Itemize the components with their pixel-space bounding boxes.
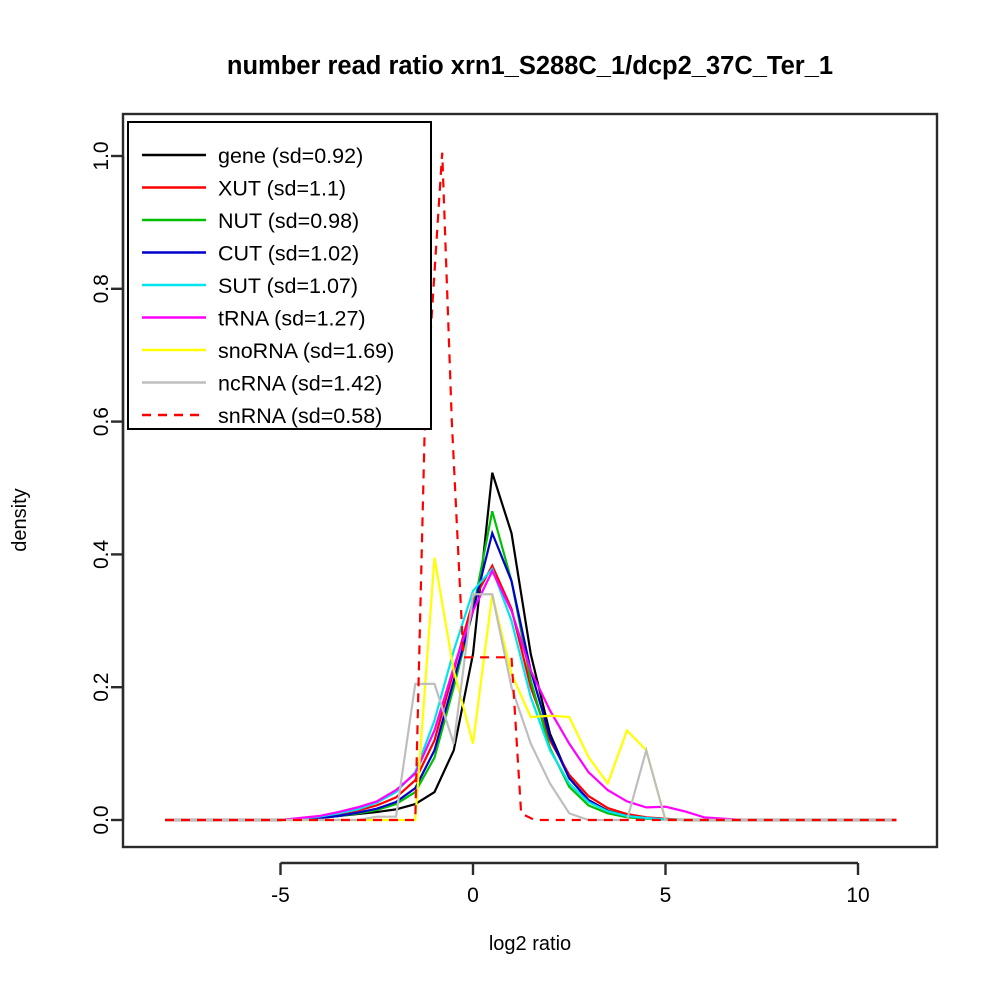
x-tick-label-1: 0 — [467, 884, 479, 907]
y-tick-label-1: 0.2 — [90, 673, 113, 702]
y-axis-title: density — [9, 488, 31, 551]
plot-svg: number read ratio xrn1_S288C_1/dcp2_37C_… — [0, 0, 1000, 1000]
x-axis: -50510 — [271, 863, 870, 907]
x-tick-label-2: 5 — [660, 884, 672, 907]
legend-label-6: snoRNA (sd=1.69) — [218, 339, 394, 363]
y-tick-label-5: 1.0 — [90, 141, 113, 170]
legend-label-3: CUT (sd=1.02) — [218, 242, 359, 266]
density-plot-figure: number read ratio xrn1_S288C_1/dcp2_37C_… — [0, 0, 1000, 1000]
legend-label-2: NUT (sd=0.98) — [218, 209, 359, 233]
legend-label-1: XUT (sd=1.1) — [218, 177, 346, 201]
y-tick-label-3: 0.6 — [90, 407, 113, 436]
x-tick-label-3: 10 — [846, 884, 869, 907]
y-tick-label-4: 0.8 — [90, 274, 113, 303]
legend-label-7: ncRNA (sd=1.42) — [218, 372, 382, 396]
legend-label-0: gene (sd=0.92) — [218, 144, 363, 168]
x-tick-label-0: -5 — [271, 884, 290, 907]
curve-gene — [165, 473, 897, 820]
y-axis: 0.00.20.40.60.81.0 — [90, 141, 123, 834]
curve-SUT — [165, 569, 897, 820]
curve-ncRNA — [165, 594, 897, 820]
legend-label-4: SUT (sd=1.07) — [218, 274, 358, 298]
x-axis-title: log2 ratio — [489, 933, 571, 955]
chart-title: number read ratio xrn1_S288C_1/dcp2_37C_… — [227, 52, 833, 80]
chart-legend: gene (sd=0.92)XUT (sd=1.1)NUT (sd=0.98)C… — [128, 122, 431, 429]
legend-label-8: snRNA (sd=0.58) — [218, 404, 382, 428]
y-tick-label-0: 0.0 — [90, 805, 113, 834]
legend-label-5: tRNA (sd=1.27) — [218, 307, 366, 331]
y-tick-label-2: 0.4 — [90, 539, 113, 569]
